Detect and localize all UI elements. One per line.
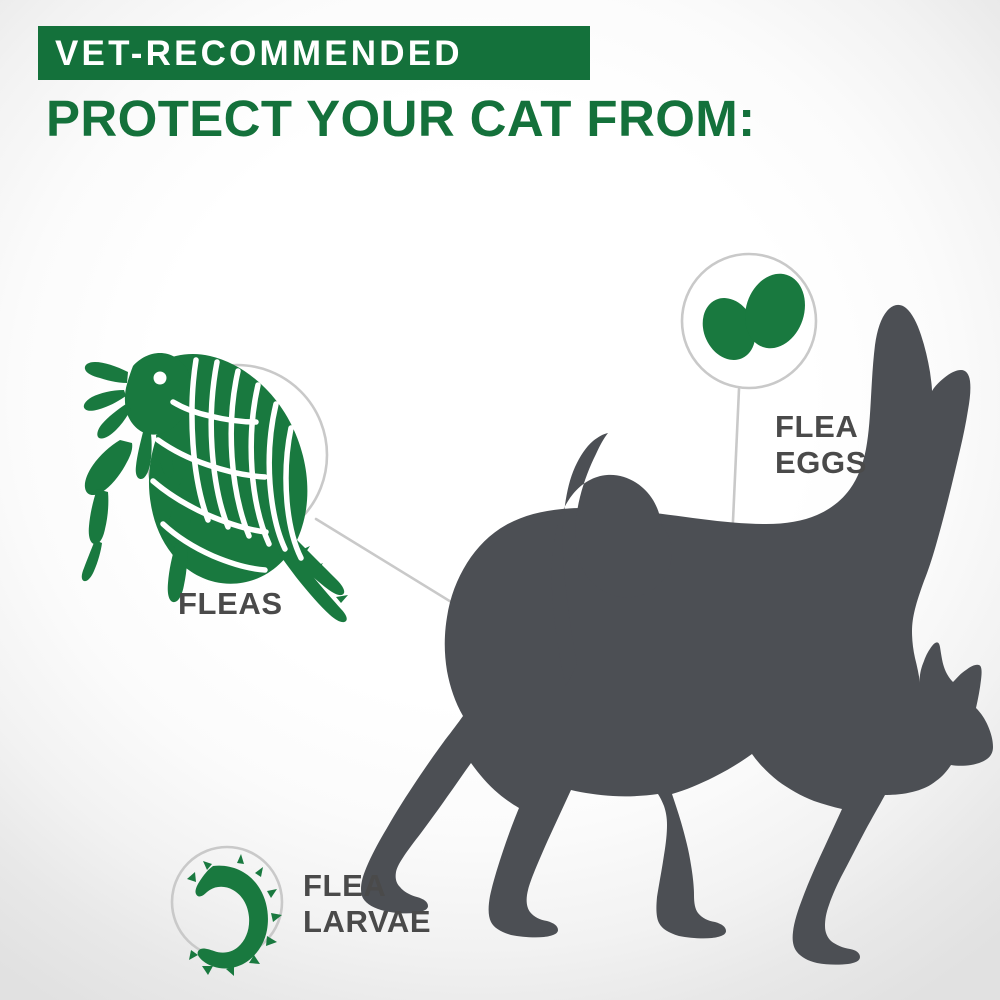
illustration-layer bbox=[0, 0, 1000, 1000]
flea-eye bbox=[154, 372, 167, 385]
infographic-canvas: VET-RECOMMENDED PROTECT YOUR CAT FROM: bbox=[0, 0, 1000, 1000]
callout-fleas[interactable] bbox=[82, 353, 348, 622]
fleas-label: FLEAS bbox=[178, 586, 283, 622]
flea-larva-icon bbox=[187, 854, 282, 976]
cat-silhouette bbox=[361, 305, 993, 965]
flea-larvae-label: FLEA LARVAE bbox=[303, 868, 431, 940]
flea-eggs-icon bbox=[693, 266, 814, 369]
flea-eggs-label: FLEA EGGS bbox=[775, 409, 867, 481]
callout-flea-larvae[interactable] bbox=[172, 847, 282, 976]
callout-flea-eggs[interactable] bbox=[682, 254, 816, 388]
